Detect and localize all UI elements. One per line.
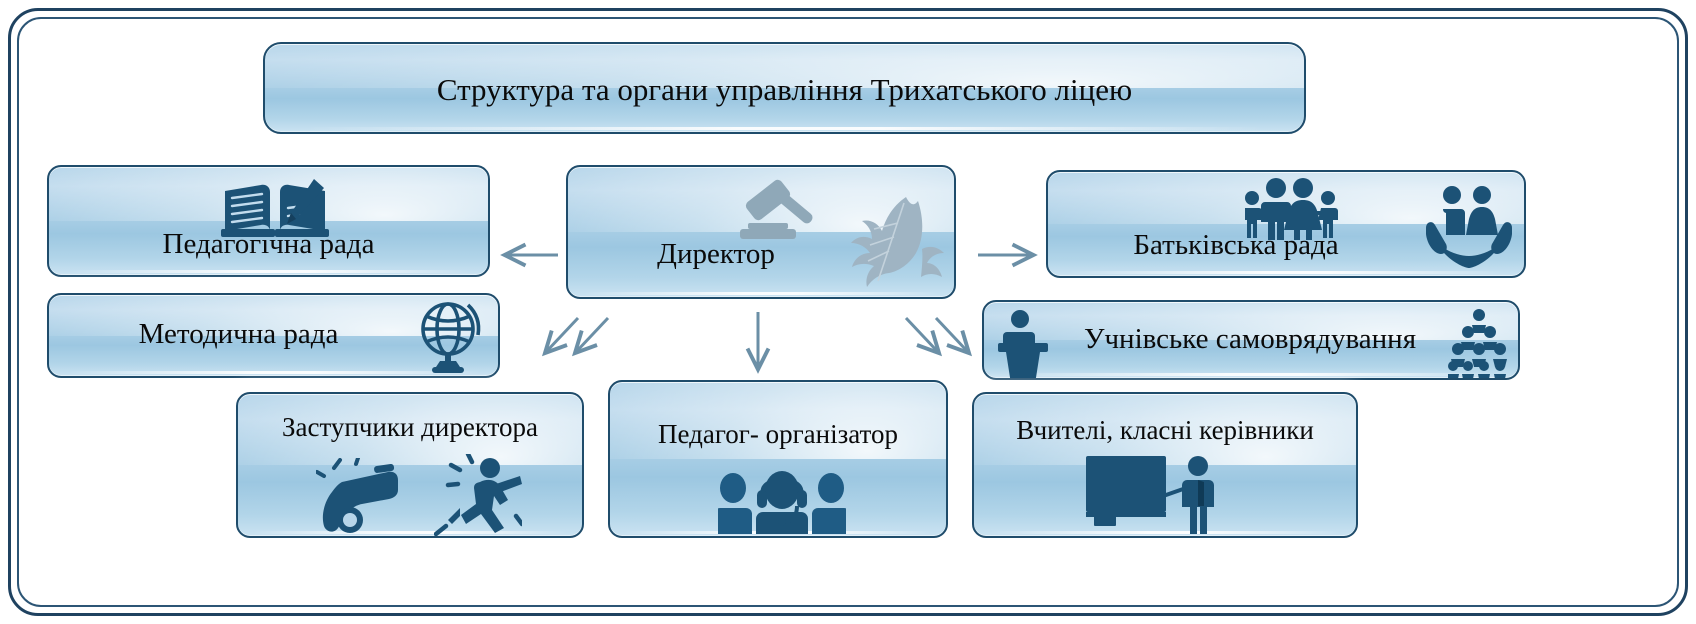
node-label: Педагогічна рада bbox=[49, 167, 488, 259]
node-label: Методична рада bbox=[49, 295, 498, 349]
page-title: Структура та органи управління Трихатськ… bbox=[265, 44, 1304, 107]
node-label: Педагог- організатор bbox=[610, 382, 946, 448]
node-label: Директор bbox=[568, 167, 954, 269]
headset-group-icon bbox=[718, 468, 846, 534]
node-methodical-council[interactable]: Методична рада bbox=[47, 293, 500, 378]
node-label: Учнівське самоврядування bbox=[984, 302, 1518, 354]
node-label: Батьківська рада bbox=[1048, 172, 1524, 260]
arrow-director-to-vchyteli-a bbox=[906, 318, 938, 352]
arrow-director-to-zastupnyky-b bbox=[576, 318, 608, 352]
arrow-director-to-vchyteli-b bbox=[936, 318, 968, 352]
node-teachers-class-leaders[interactable]: Вчителі, класні керівники bbox=[972, 392, 1358, 538]
node-pedagogue-organizer[interactable]: Педагог- організатор bbox=[608, 380, 948, 538]
running-person-icon bbox=[434, 454, 522, 536]
node-student-government[interactable]: Учнівське самоврядування bbox=[982, 300, 1520, 380]
node-director[interactable]: Директор bbox=[566, 165, 956, 299]
node-label: Заступчики директора bbox=[238, 394, 582, 441]
node-label: Вчителі, класні керівники bbox=[974, 394, 1356, 444]
diagram-title-box: Структура та органи управління Трихатськ… bbox=[263, 42, 1306, 134]
node-pedagogical-council[interactable]: Педагогічна рада bbox=[47, 165, 490, 277]
arrow-director-to-zastupnyky-a bbox=[546, 318, 578, 352]
org-chart-diagram: Структура та органи управління Трихатськ… bbox=[0, 0, 1696, 624]
blackboard-teacher-icon bbox=[1086, 454, 1222, 536]
node-deputy-directors[interactable]: Заступчики директора bbox=[236, 392, 584, 538]
whistle-icon bbox=[316, 458, 408, 536]
node-parents-council[interactable]: Батьківська рада bbox=[1046, 170, 1526, 278]
